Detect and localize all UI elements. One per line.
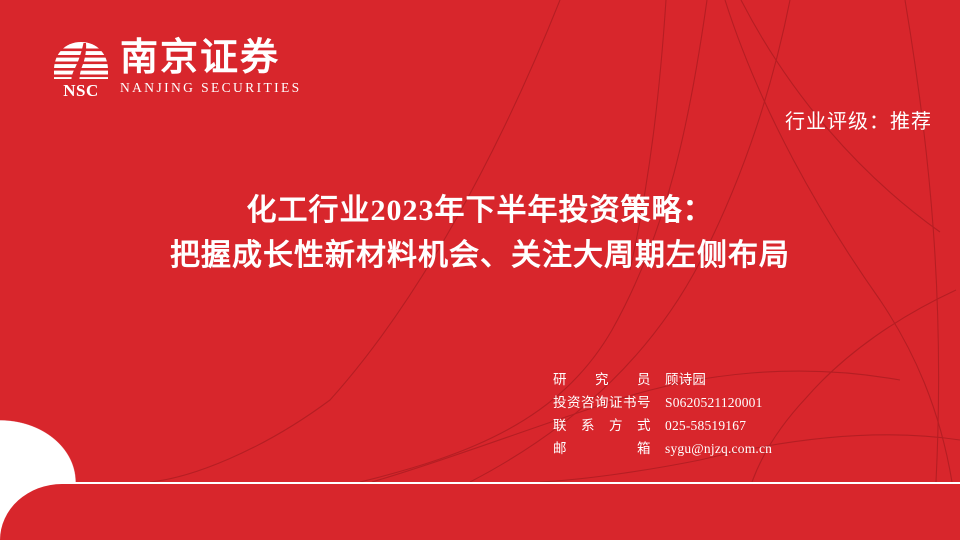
info-value-analyst: 顾诗园 xyxy=(665,368,706,388)
presentation-cover-slide: NSC 南京证券 NANJING SECURITIES 行业评级：推荐 化工行业… xyxy=(0,0,960,540)
info-row-phone: 联 系 方 式 025-58519167 xyxy=(553,414,772,437)
brand-wordmark: 南京证券 NANJING SECURITIES xyxy=(120,36,302,96)
nsc-dome-logo-icon: NSC xyxy=(50,36,112,100)
report-title-line-1: 化工行业2023年下半年投资策略： xyxy=(0,188,960,233)
info-label-license: 投资咨询证书号 xyxy=(553,391,665,411)
brand-logo: NSC 南京证券 NANJING SECURITIES xyxy=(50,36,302,100)
industry-rating-label: 行业评级：推荐 xyxy=(785,105,932,134)
report-title: 化工行业2023年下半年投资策略： 把握成长性新材料机会、关注大周期左侧布局 xyxy=(0,188,960,278)
info-label-email: 邮 箱 xyxy=(553,437,665,457)
info-value-phone: 025-58519167 xyxy=(665,418,746,434)
report-title-line-2: 把握成长性新材料机会、关注大周期左侧布局 xyxy=(0,233,960,278)
company-name-en: NANJING SECURITIES xyxy=(120,80,302,96)
info-value-license: S0620521120001 xyxy=(665,395,763,411)
info-row-email: 邮 箱 sygu@njzq.com.cn xyxy=(553,437,772,460)
company-name-cn: 南京证券 xyxy=(120,38,302,78)
info-label-analyst: 研 究 员 xyxy=(553,368,665,388)
info-value-email: sygu@njzq.com.cn xyxy=(665,441,772,457)
info-row-license: 投资咨询证书号 S0620521120001 xyxy=(553,391,772,414)
analyst-info-block: 研 究 员 顾诗园 投资咨询证书号 S0620521120001 联 系 方 式… xyxy=(553,368,772,460)
bottom-red-band xyxy=(0,484,960,540)
nsc-abbrev-text: NSC xyxy=(63,81,99,100)
info-row-analyst: 研 究 员 顾诗园 xyxy=(553,368,772,391)
info-label-phone: 联 系 方 式 xyxy=(553,414,665,434)
